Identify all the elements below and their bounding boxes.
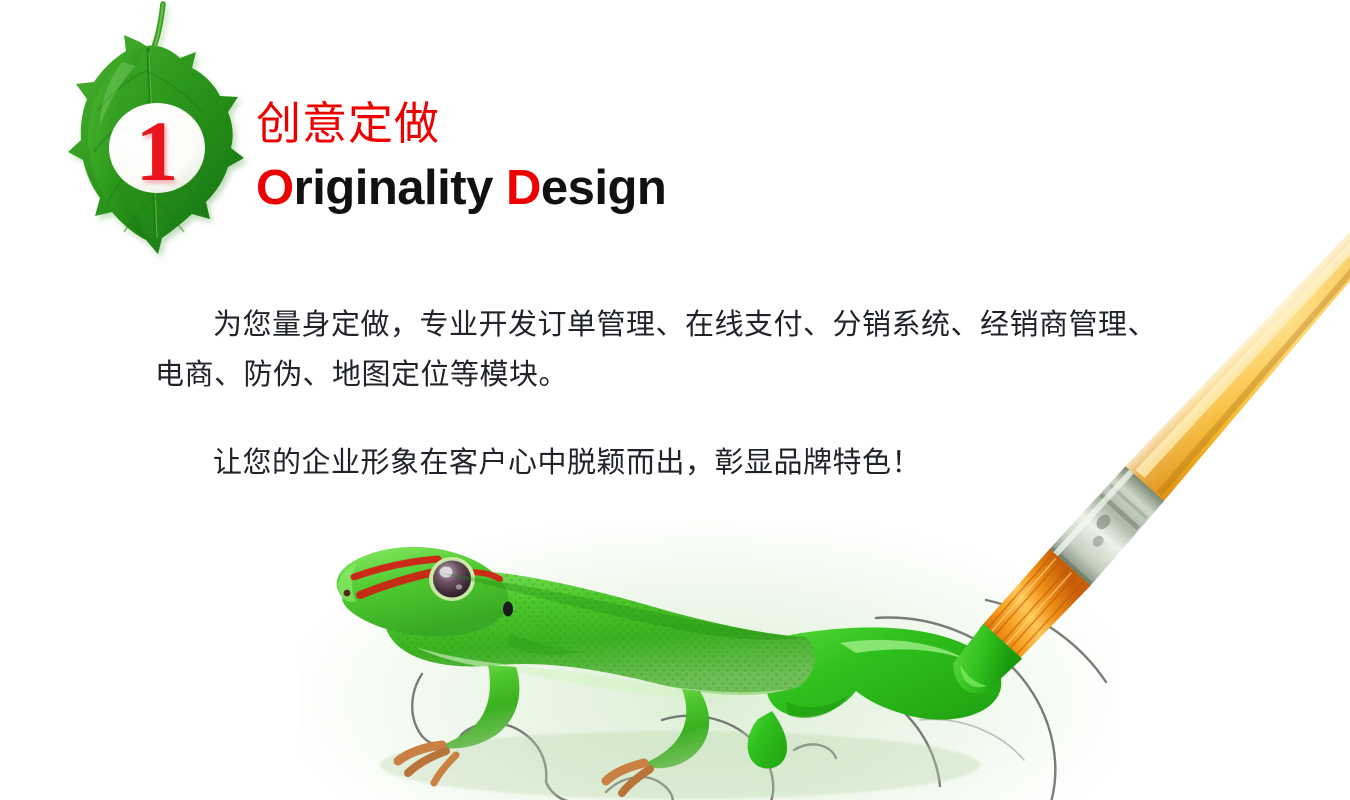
gecko-paint-shadow (786, 695, 848, 718)
gecko-eye-glint-small (456, 584, 462, 589)
sketch-arc-5 (876, 618, 1055, 800)
heading-english-plain: Originality Design (0, 0, 1, 1)
leaf-badge: 1 (62, 0, 252, 265)
heading-english-cap-d: D (506, 161, 541, 215)
gecko-front-toes (398, 745, 456, 783)
heading-chinese: 创意定做 (256, 98, 956, 150)
gecko-eye-glint (440, 567, 453, 578)
brush-bristle-highlights (989, 558, 1072, 646)
heading-english-esign: esign (541, 161, 666, 215)
gecko-hind-toes (606, 763, 650, 793)
gecko-hind-leg (640, 689, 709, 768)
gecko-nostril (344, 590, 351, 597)
gecko-paint-tail (767, 627, 1001, 719)
sketch-faint-2 (532, 645, 616, 662)
sketch-faint-1 (700, 633, 828, 672)
sketch-arc-2 (546, 782, 582, 800)
gecko-shoulder-shading (508, 633, 582, 655)
gecko-body-scales (383, 572, 814, 695)
promo-banner: 1 创意定做 Originality Design 为您量身定做，专业开发订单管… (0, 0, 1350, 800)
sketch-loop-1 (606, 777, 673, 800)
sketch-arc-1 (462, 723, 546, 782)
gecko-stripe-lower (360, 569, 452, 595)
brush-bristles (979, 549, 1091, 665)
heading-block: 创意定做 Originality Design (256, 98, 956, 216)
gecko-paint-highlight (840, 640, 972, 663)
body-text-block: 为您量身定做，专业开发订单管理、在线支付、分销系统、经销商管理、电商、防伪、地图… (155, 300, 1185, 488)
body-paragraph-2: 让您的企业形象在客户心中脱颖而出，彰显品牌特色！ (155, 438, 1185, 488)
gecko-stripe-upper (354, 559, 438, 577)
green-gecko (320, 515, 1080, 800)
brush-ferrule-crimp (1050, 483, 1149, 585)
gecko-belly-highlight (416, 647, 788, 698)
gecko-eye (433, 561, 471, 598)
gecko-stripe-eye-back (462, 572, 500, 579)
gecko-eye-ring (429, 557, 475, 601)
heading-english: Originality Design (256, 160, 956, 216)
gecko-front-leg (438, 665, 519, 749)
ambient-green-glow (300, 520, 1120, 800)
badge-number: 1 (136, 103, 179, 199)
gecko-back-ridge (440, 573, 806, 640)
gecko-shadow (380, 731, 980, 799)
sketch-arc-3 (662, 716, 773, 800)
gecko-snout-highlight (338, 563, 356, 602)
brush-tip-paint (942, 624, 1022, 705)
heading-english-cap-o: O (256, 161, 294, 215)
gecko-head (337, 547, 509, 637)
sketch-arc-4 (752, 663, 940, 786)
badge-number-group: 1 (136, 103, 179, 199)
gecko-body (383, 572, 814, 695)
brush-tip-paint-highlight (954, 663, 986, 694)
sketch-arc-6 (986, 600, 1106, 682)
sketch-tick-1 (794, 744, 836, 758)
gecko-paint-drip (748, 711, 787, 769)
sketch-faint-3 (920, 719, 1024, 760)
heading-english-riginality: riginality (294, 161, 506, 215)
brush-bristle-strands (984, 554, 1083, 658)
body-paragraph-1: 为您量身定做，专业开发订单管理、在线支付、分销系统、经销商管理、电商、防伪、地图… (155, 300, 1185, 400)
gecko-ear (503, 602, 513, 617)
sketch-curl-left (412, 674, 462, 746)
pencil-sketch-lines (400, 600, 1160, 800)
